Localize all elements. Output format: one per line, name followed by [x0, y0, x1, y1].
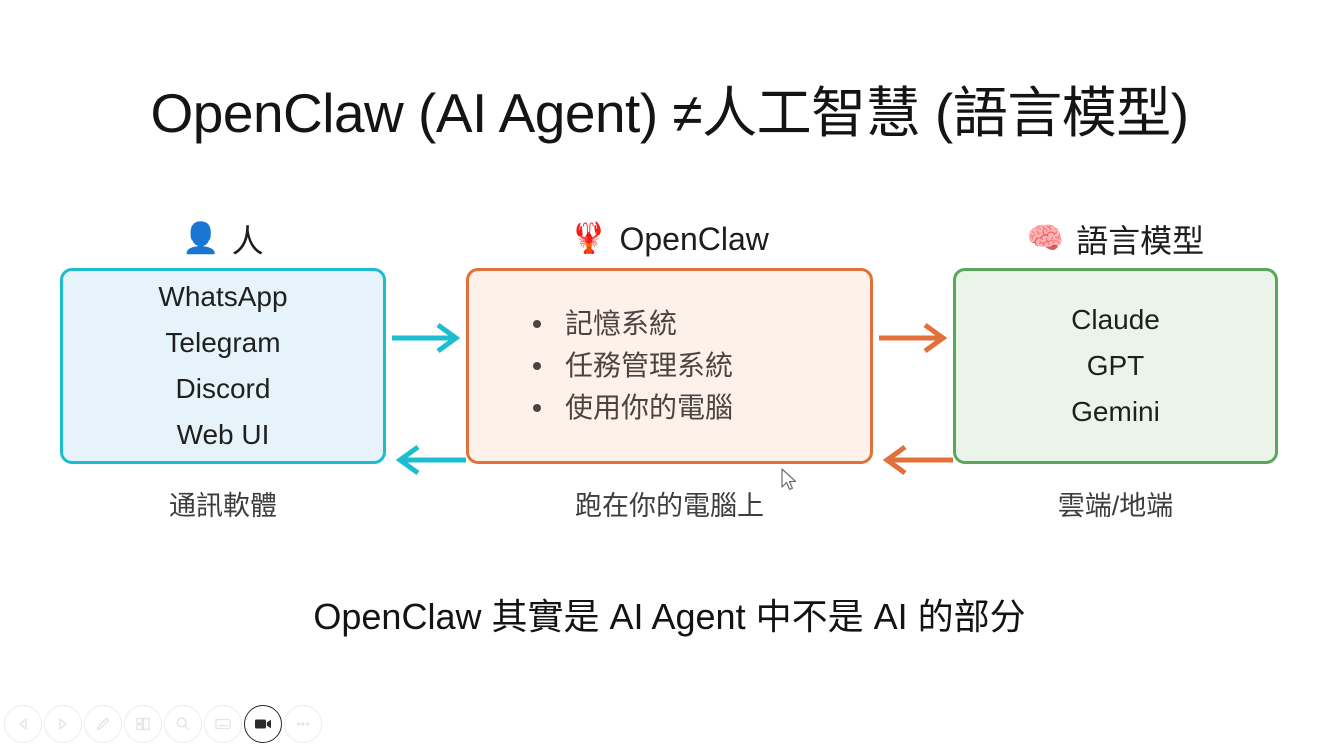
column-model: 🧠 語言模型 Claude GPT Gemini 雲端/地端 — [953, 210, 1278, 523]
magnifier-icon — [174, 715, 192, 733]
presentation-toolbar[interactable] — [4, 704, 322, 744]
more-options-button[interactable] — [284, 705, 322, 743]
list-item: 任務管理系統 — [533, 345, 733, 387]
pen-icon — [94, 715, 112, 733]
triangle-left-icon — [15, 716, 31, 732]
arrow-left-cyan-icon — [390, 440, 470, 500]
ellipsis-icon — [293, 719, 313, 729]
list-item: WhatsApp — [158, 274, 287, 320]
column-model-header: 🧠 語言模型 — [953, 210, 1278, 268]
list-item: 記憶系統 — [533, 303, 677, 345]
pen-button[interactable] — [84, 705, 122, 743]
list-item-label: 任務管理系統 — [565, 345, 733, 387]
slide-summary-text: OpenClaw 其實是 AI Agent 中不是 AI 的部分 — [0, 588, 1339, 640]
person-bust-icon: 👤 — [182, 224, 219, 254]
next-slide-button[interactable] — [44, 705, 82, 743]
list-item: Discord — [176, 366, 271, 412]
arrow-left-orange-icon — [877, 440, 957, 500]
human-channels-box: WhatsApp Telegram Discord Web UI — [60, 268, 386, 464]
column-agent-caption: 跑在你的電腦上 — [466, 484, 873, 523]
bullet-dot-icon — [533, 404, 541, 412]
column-human-caption: 通訊軟體 — [60, 484, 386, 523]
previous-slide-button[interactable] — [4, 705, 42, 743]
column-human-header: 👤 人 — [60, 210, 386, 268]
list-item-label: 記憶系統 — [565, 303, 677, 345]
list-item-label: 使用你的電腦 — [565, 387, 733, 429]
presentation-slide: OpenClaw (AI Agent) ≠人工智慧 (語言模型) 👤 人 Wha… — [0, 0, 1339, 748]
arrow-right-orange-icon — [877, 318, 957, 418]
lobster-icon: 🦞 — [570, 224, 607, 254]
list-item: Telegram — [165, 320, 280, 366]
triangle-right-icon — [55, 716, 71, 732]
brain-icon: 🧠 — [1027, 224, 1064, 254]
list-item: Claude — [1071, 297, 1160, 343]
column-model-heading: 語言模型 — [1076, 216, 1204, 262]
list-item: Gemini — [1071, 389, 1160, 435]
video-camera-icon — [253, 716, 273, 732]
column-human-heading: 人 — [232, 216, 264, 262]
bullet-dot-icon — [533, 320, 541, 328]
list-item: GPT — [1087, 343, 1145, 389]
column-agent-header: 🦞 OpenClaw — [466, 210, 873, 268]
captions-button[interactable] — [204, 705, 242, 743]
page-title: OpenClaw (AI Agent) ≠人工智慧 (語言模型) — [0, 68, 1339, 148]
zoom-button[interactable] — [164, 705, 202, 743]
agent-features-box: 記憶系統 任務管理系統 使用你的電腦 — [466, 268, 873, 464]
video-button[interactable] — [244, 705, 282, 743]
column-model-caption: 雲端/地端 — [953, 484, 1278, 523]
list-item: 使用你的電腦 — [533, 387, 733, 429]
model-providers-box: Claude GPT Gemini — [953, 268, 1278, 464]
grid-panels-icon — [134, 715, 152, 733]
column-human: 👤 人 WhatsApp Telegram Discord Web UI 通訊軟… — [60, 210, 386, 523]
slide-layout-button[interactable] — [124, 705, 162, 743]
arrows-agent-model — [877, 318, 957, 418]
column-agent: 🦞 OpenClaw 記憶系統 任務管理系統 使用你的電腦 跑在你的電腦上 — [466, 210, 873, 523]
arrow-right-cyan-icon — [390, 318, 470, 418]
arrows-human-agent — [390, 318, 470, 418]
column-agent-heading: OpenClaw — [619, 221, 768, 258]
subtitles-icon — [213, 715, 233, 733]
list-item: Web UI — [177, 412, 270, 458]
bullet-dot-icon — [533, 362, 541, 370]
